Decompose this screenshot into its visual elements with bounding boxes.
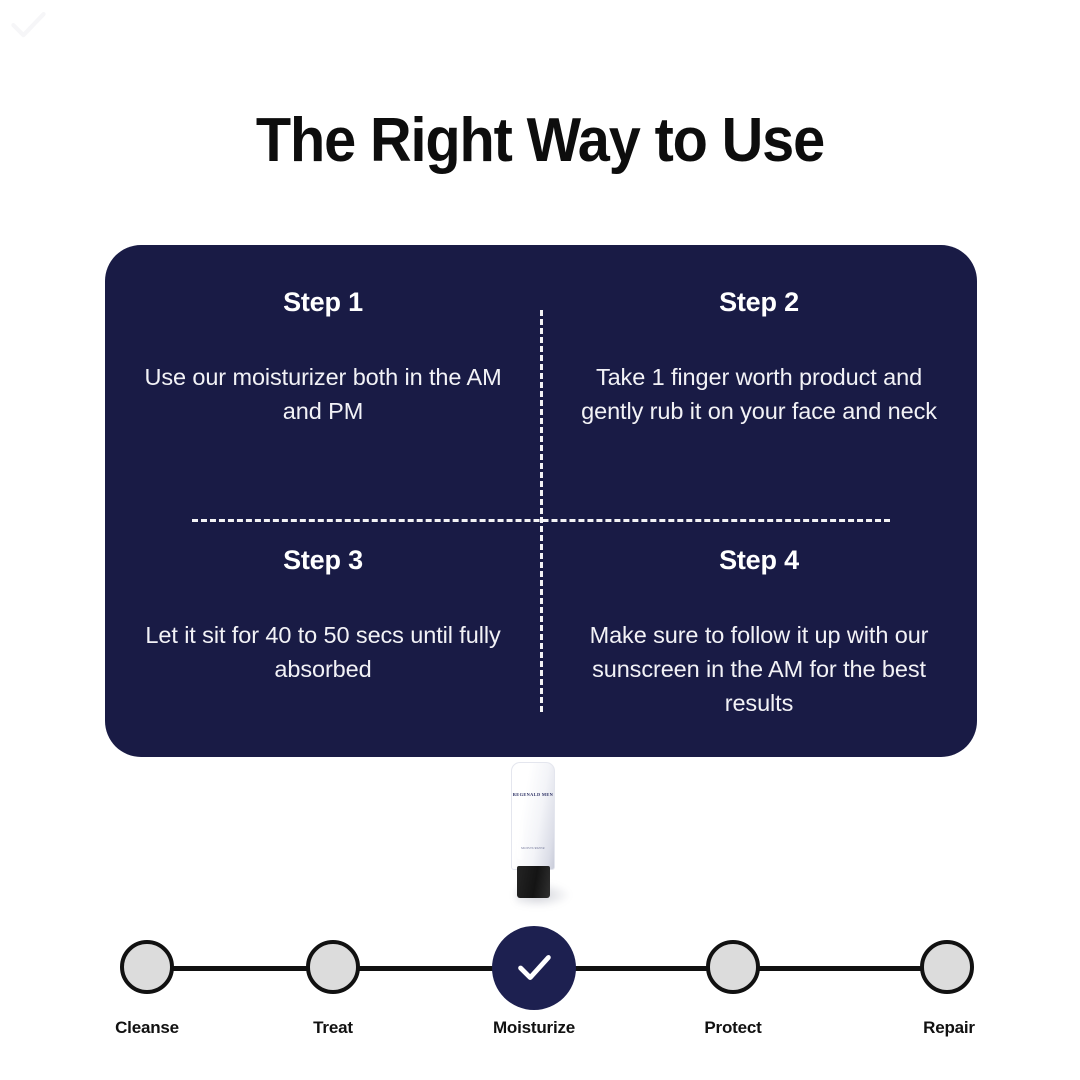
step-cell-3: Step 3 Let it sit for 40 to 50 secs unti… [105,501,541,757]
checkmark-watermark-icon [6,4,50,48]
tube-brand-label: REGENALD MEN [511,792,555,798]
routine-node-repair[interactable] [920,940,974,994]
step-1-body: Use our moisturizer both in the AM and P… [139,360,507,428]
routine-label-treat: Treat [243,1018,423,1038]
step-4-body: Make sure to follow it up with our sunsc… [575,618,943,720]
tube-cap [517,866,550,898]
horizontal-dashed-divider [192,519,890,522]
routine-node-treat[interactable] [306,940,360,994]
page-title: The Right Way to Use [38,108,1042,173]
routine-label-cleanse: Cleanse [57,1018,237,1038]
checkmark-icon [511,945,557,991]
routine-label-moisturize: Moisturize [444,1018,624,1038]
step-2-heading: Step 2 [575,287,943,318]
infographic-canvas: The Right Way to Use Step 1 Use our mois… [0,0,1080,1080]
step-3-heading: Step 3 [139,545,507,576]
vertical-dashed-divider [540,310,543,712]
step-cell-2: Step 2 Take 1 finger worth product and g… [541,245,977,448]
routine-label-protect: Protect [643,1018,823,1038]
steps-card: Step 1 Use our moisturizer both in the A… [105,245,977,757]
product-tube-image: REGENALD MEN MOISTURIZER [505,762,567,902]
routine-progress-track: Cleanse Treat Moisturize Protect Repair [120,920,972,990]
routine-node-protect[interactable] [706,940,760,994]
tube-body [511,762,555,870]
routine-node-cleanse[interactable] [120,940,174,994]
step-1-heading: Step 1 [139,287,507,318]
step-cell-1: Step 1 Use our moisturizer both in the A… [105,245,541,448]
step-cell-4: Step 4 Make sure to follow it up with ou… [541,501,977,757]
step-4-heading: Step 4 [575,545,943,576]
routine-node-moisturize-active[interactable] [492,926,576,1010]
step-2-body: Take 1 finger worth product and gently r… [575,360,943,428]
routine-label-repair: Repair [859,1018,1039,1038]
step-3-body: Let it sit for 40 to 50 secs until fully… [139,618,507,686]
tube-sub-label: MOISTURIZER [511,846,555,850]
